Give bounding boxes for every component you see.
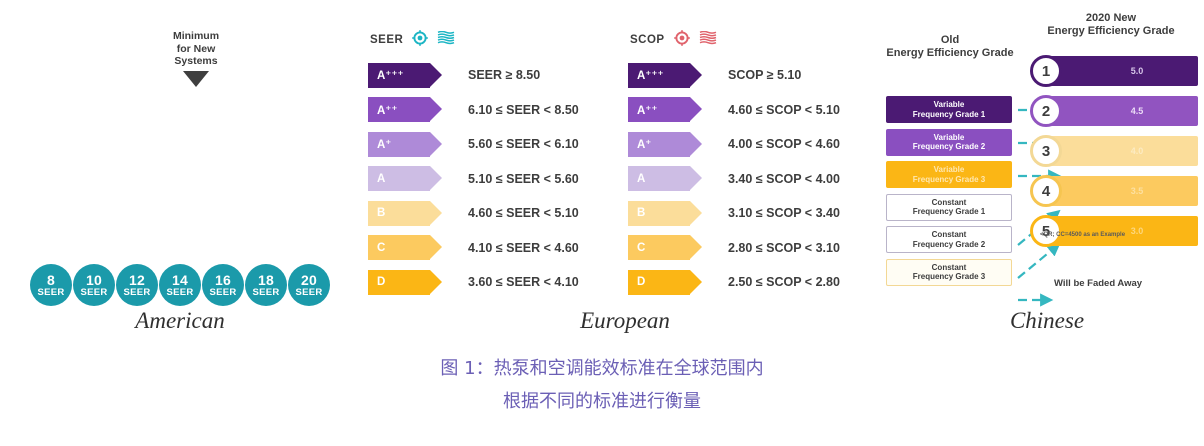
old-grade-line-1: Variable [934, 100, 965, 110]
seer-chip-unit: SEER [123, 288, 150, 298]
grade-range-text: 3.10 ≤ SCOP < 3.40 [728, 206, 840, 220]
new-grade-item: 4.03 [1030, 136, 1204, 166]
faded-away-note: Will be Faded Away [1054, 278, 1142, 289]
seer-grade-column: SEERA⁺⁺⁺SEER ≥ 8.50A⁺⁺6.10 ≤ SEER < 8.50… [368, 30, 579, 302]
new-grade-item: 4.52 [1030, 96, 1204, 126]
grade-badge: A⁺⁺⁺ [628, 63, 690, 88]
example-note: <QR; CC=4500 as an Example [1040, 232, 1190, 238]
grade-range-text: 4.60 ≤ SEER < 5.10 [468, 206, 579, 220]
grade-range-text: 3.40 ≤ SCOP < 4.00 [728, 172, 840, 186]
metric-header: SCOP [628, 30, 840, 50]
grade-row: A⁺⁺4.60 ≤ SCOP < 5.10 [628, 95, 840, 125]
old-grade-line-2: Frequency Grade 1 [913, 110, 985, 120]
grade-row: C4.10 ≤ SEER < 4.60 [368, 233, 579, 263]
country-label-chinese: Chinese [890, 308, 1204, 334]
old-grade-list: VariableFrequency Grade 1VariableFrequen… [886, 96, 1012, 291]
cooling-sun-icon [412, 30, 428, 51]
grade-badge: A [628, 166, 690, 191]
metric-header: SEER [368, 30, 579, 50]
flag-icon [437, 31, 455, 50]
old-grade-line-2: Frequency Grade 3 [913, 175, 985, 185]
grade-range-text: 5.60 ≤ SEER < 6.10 [468, 137, 579, 151]
new-grade-number: 2 [1030, 95, 1062, 127]
seer-chip-number: 12 [129, 273, 145, 287]
grade-badge: D [628, 270, 690, 295]
seer-value-chip: 16SEER [202, 264, 244, 306]
grade-badge: A⁺⁺⁺ [368, 63, 430, 88]
new-grade-bar: 5.0 [1050, 56, 1198, 86]
old-grade-line-1: Constant [932, 263, 967, 273]
old-grade-heading: Old Energy Efficiency Grade [886, 34, 1014, 60]
figure-caption: 图 1：热泵和空调能效标准在全球范围内 根据不同的标准进行衡量 [0, 352, 1204, 418]
old-grade-line-2: Frequency Grade 1 [913, 207, 985, 217]
new-grade-bar: 3.0 [1050, 216, 1198, 246]
new-grade-number: 5 [1030, 215, 1062, 247]
old-grade-item: VariableFrequency Grade 3 [886, 161, 1012, 188]
grade-row: C2.80 ≤ SCOP < 3.10 [628, 233, 840, 263]
grade-range-text: 5.10 ≤ SEER < 5.60 [468, 172, 579, 186]
new-grade-bar: 3.5 [1050, 176, 1198, 206]
seer-chip-number: 14 [172, 273, 188, 287]
old-grade-item: VariableFrequency Grade 2 [886, 129, 1012, 156]
old-grade-heading-line-1: Old [886, 34, 1014, 47]
seer-chip-unit: SEER [252, 288, 279, 298]
metric-title: SEER [370, 34, 403, 46]
grade-range-text: 4.60 ≤ SCOP < 5.10 [728, 103, 840, 117]
grade-rows: A⁺⁺⁺SCOP ≥ 5.10A⁺⁺4.60 ≤ SCOP < 5.10A⁺4.… [628, 60, 840, 297]
european-panel: SEERA⁺⁺⁺SEER ≥ 8.50A⁺⁺6.10 ≤ SEER < 8.50… [360, 0, 890, 340]
metric-title: SCOP [630, 34, 665, 46]
old-grade-heading-line-2: Energy Efficiency Grade [886, 47, 1014, 60]
new-grade-heading-line-1: 2020 New [1018, 12, 1204, 25]
new-grade-number: 3 [1030, 135, 1062, 167]
grade-row: A⁺⁺⁺SCOP ≥ 5.10 [628, 60, 840, 90]
old-grade-line-1: Constant [932, 230, 967, 240]
new-grade-item: 3.54 [1030, 176, 1204, 206]
grade-badge: C [628, 235, 690, 260]
flag-icon [699, 31, 717, 50]
country-label-american: American [0, 308, 360, 334]
grade-badge: A⁺ [628, 132, 690, 157]
seer-bar-chart: 8SEER10SEER12SEER14SEER16SEER18SEERENERG… [32, 26, 332, 278]
grade-badge: A⁺⁺ [368, 97, 430, 122]
seer-value-chip: 12SEER [116, 264, 158, 306]
new-grade-value: 4.0 [1105, 146, 1144, 156]
new-grade-heading-line-2: Energy Efficiency Grade [1018, 25, 1204, 38]
grade-range-text: SEER ≥ 8.50 [468, 68, 540, 82]
seer-chip-number: 18 [258, 273, 274, 287]
seer-chip-unit: SEER [295, 288, 322, 298]
grade-range-text: SCOP ≥ 5.10 [728, 68, 801, 82]
seer-chip-unit: SEER [209, 288, 236, 298]
old-grade-item: VariableFrequency Grade 1 [886, 96, 1012, 123]
american-panel: Minimum for New Systems 8SEER10SEER12SEE… [0, 0, 360, 340]
grade-row: A⁺5.60 ≤ SEER < 6.10 [368, 129, 579, 159]
new-grade-heading: 2020 New Energy Efficiency Grade [1018, 12, 1204, 38]
grade-row: D3.60 ≤ SEER < 4.10 [368, 267, 579, 297]
seer-value-chip: 8SEER [30, 264, 72, 306]
old-grade-item: ConstantFrequency Grade 2 [886, 226, 1012, 253]
new-grade-item: 3.05 [1030, 216, 1204, 246]
old-grade-line-1: Constant [932, 198, 967, 208]
grade-row: D2.50 ≤ SCOP < 2.80 [628, 267, 840, 297]
grade-badge: D [368, 270, 430, 295]
caption-line-1: 图 1：热泵和空调能效标准在全球范围内 [0, 352, 1204, 385]
grade-row: A⁺⁺⁺SEER ≥ 8.50 [368, 60, 579, 90]
grade-range-text: 6.10 ≤ SEER < 8.50 [468, 103, 579, 117]
grade-row: A5.10 ≤ SEER < 5.60 [368, 164, 579, 194]
new-grade-value: 5.0 [1105, 66, 1144, 76]
seer-chip-number: 10 [86, 273, 102, 287]
new-grade-bar: 4.0 [1050, 136, 1198, 166]
grade-range-text: 2.80 ≤ SCOP < 3.10 [728, 241, 840, 255]
old-grade-item: ConstantFrequency Grade 1 [886, 194, 1012, 221]
grade-badge: C [368, 235, 430, 260]
new-grade-list: 5.014.524.033.543.05 [1030, 56, 1204, 256]
grade-row: A⁺⁺6.10 ≤ SEER < 8.50 [368, 95, 579, 125]
old-grade-line-2: Frequency Grade 2 [913, 240, 985, 250]
grade-row: A⁺4.00 ≤ SCOP < 4.60 [628, 129, 840, 159]
seer-value-chip: 10SEER [73, 264, 115, 306]
new-grade-value: 4.5 [1105, 106, 1144, 116]
grade-range-text: 2.50 ≤ SCOP < 2.80 [728, 275, 840, 289]
seer-chip-number: 8 [47, 273, 55, 287]
old-grade-line-2: Frequency Grade 3 [913, 272, 985, 282]
seer-chip-unit: SEER [37, 288, 64, 298]
new-grade-number: 4 [1030, 175, 1062, 207]
grade-range-text: 4.00 ≤ SCOP < 4.60 [728, 137, 840, 151]
seer-value-chip: 18SEER [245, 264, 287, 306]
grade-badge: A⁺⁺ [628, 97, 690, 122]
new-grade-number: 1 [1030, 55, 1062, 87]
seer-chip-unit: SEER [166, 288, 193, 298]
grade-row: B3.10 ≤ SCOP < 3.40 [628, 198, 840, 228]
old-grade-line-1: Variable [934, 165, 965, 175]
grade-row: B4.60 ≤ SEER < 5.10 [368, 198, 579, 228]
chinese-panel: Old Energy Efficiency Grade 2020 New Ene… [890, 0, 1204, 340]
seer-value-chip: 20SEER [288, 264, 330, 306]
grade-badge: A⁺ [368, 132, 430, 157]
new-grade-item: 5.01 [1030, 56, 1204, 86]
seer-chip-number: 20 [301, 273, 317, 287]
new-grade-value: 3.5 [1105, 186, 1144, 196]
country-label-european: European [360, 308, 890, 334]
grade-badge: A [368, 166, 430, 191]
grade-row: A3.40 ≤ SCOP < 4.00 [628, 164, 840, 194]
grade-range-text: 3.60 ≤ SEER < 4.10 [468, 275, 579, 289]
grade-badge: B [368, 201, 430, 226]
old-grade-item: ConstantFrequency Grade 3 [886, 259, 1012, 286]
grade-badge: B [628, 201, 690, 226]
caption-line-2: 根据不同的标准进行衡量 [0, 385, 1204, 418]
scop-grade-column: SCOPA⁺⁺⁺SCOP ≥ 5.10A⁺⁺4.60 ≤ SCOP < 5.10… [628, 30, 840, 302]
old-grade-line-2: Frequency Grade 2 [913, 142, 985, 152]
seer-chip-number: 16 [215, 273, 231, 287]
new-grade-bar: 4.5 [1050, 96, 1198, 126]
seer-value-chip: 14SEER [159, 264, 201, 306]
grade-range-text: 4.10 ≤ SEER < 4.60 [468, 241, 579, 255]
grade-rows: A⁺⁺⁺SEER ≥ 8.50A⁺⁺6.10 ≤ SEER < 8.50A⁺5.… [368, 60, 579, 297]
seer-chip-unit: SEER [80, 288, 107, 298]
heating-sun-icon [674, 30, 690, 51]
old-grade-line-1: Variable [934, 133, 965, 143]
